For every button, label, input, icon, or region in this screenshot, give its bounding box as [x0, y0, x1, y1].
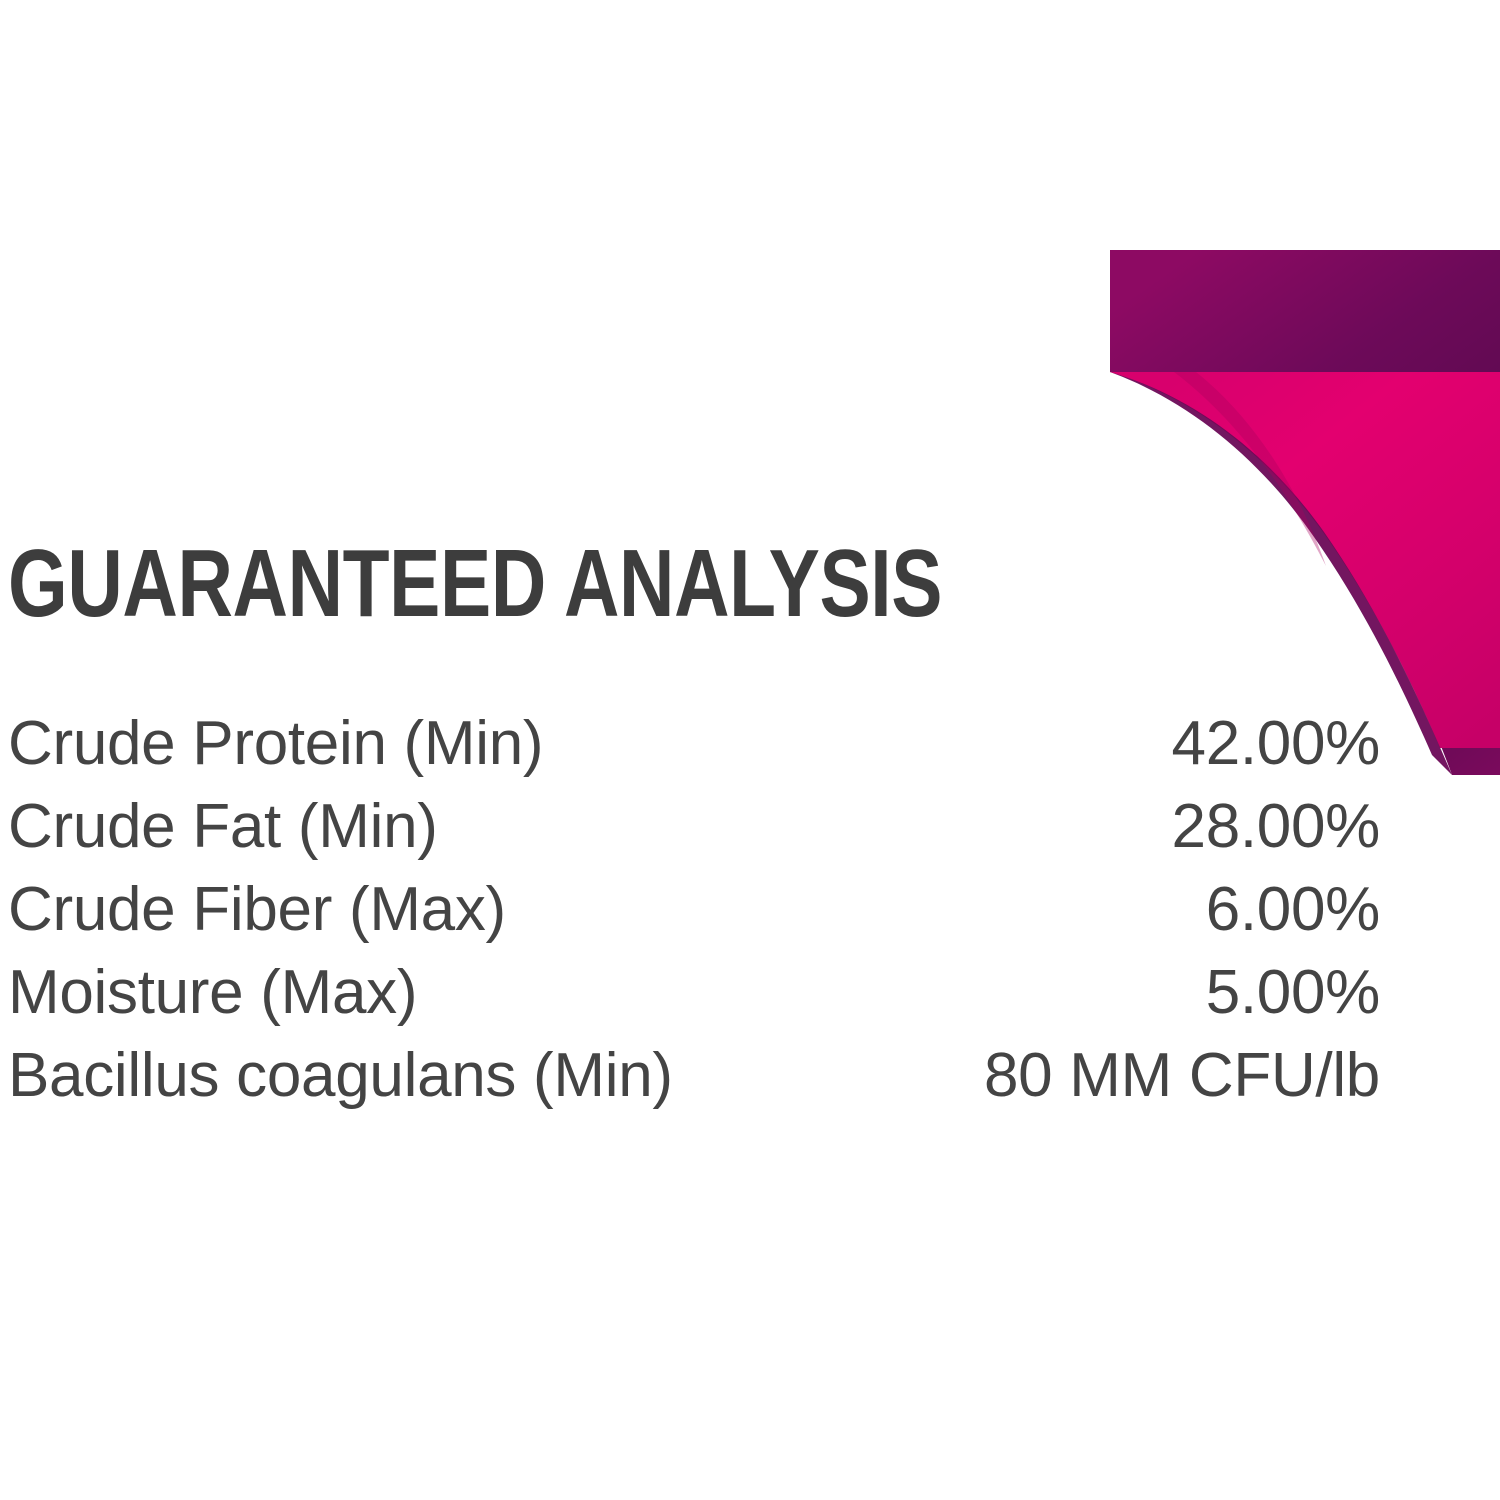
guaranteed-analysis-panel: GUARANTEED ANALYSIS Crude Protein (Min) … [0, 0, 1500, 1500]
nutrient-label: Crude Fat (Min) [8, 785, 868, 868]
nutrient-value: 5.00% [868, 951, 1380, 1034]
nutrient-label: Moisture (Max) [8, 951, 868, 1034]
nutrient-label: Crude Fiber (Max) [8, 868, 868, 951]
nutrient-label: Bacillus coagulans (Min) [8, 1034, 868, 1117]
table-row: Crude Fat (Min) 28.00% [8, 785, 1380, 868]
table-row: Crude Protein (Min) 42.00% [8, 702, 1380, 785]
page-title: GUARANTEED ANALYSIS [8, 536, 942, 632]
nutrient-label: Crude Protein (Min) [8, 702, 868, 785]
nutrient-value: 28.00% [868, 785, 1380, 868]
table-row: Moisture (Max) 5.00% [8, 951, 1380, 1034]
nutrient-value: 80 MM CFU/lb [868, 1034, 1380, 1117]
nutrient-value: 6.00% [868, 868, 1380, 951]
guaranteed-analysis-table: Crude Protein (Min) 42.00% Crude Fat (Mi… [8, 702, 1380, 1117]
table-row: Bacillus coagulans (Min) 80 MM CFU/lb [8, 1034, 1380, 1117]
table-row: Crude Fiber (Max) 6.00% [8, 868, 1380, 951]
nutrient-value: 42.00% [868, 702, 1380, 785]
